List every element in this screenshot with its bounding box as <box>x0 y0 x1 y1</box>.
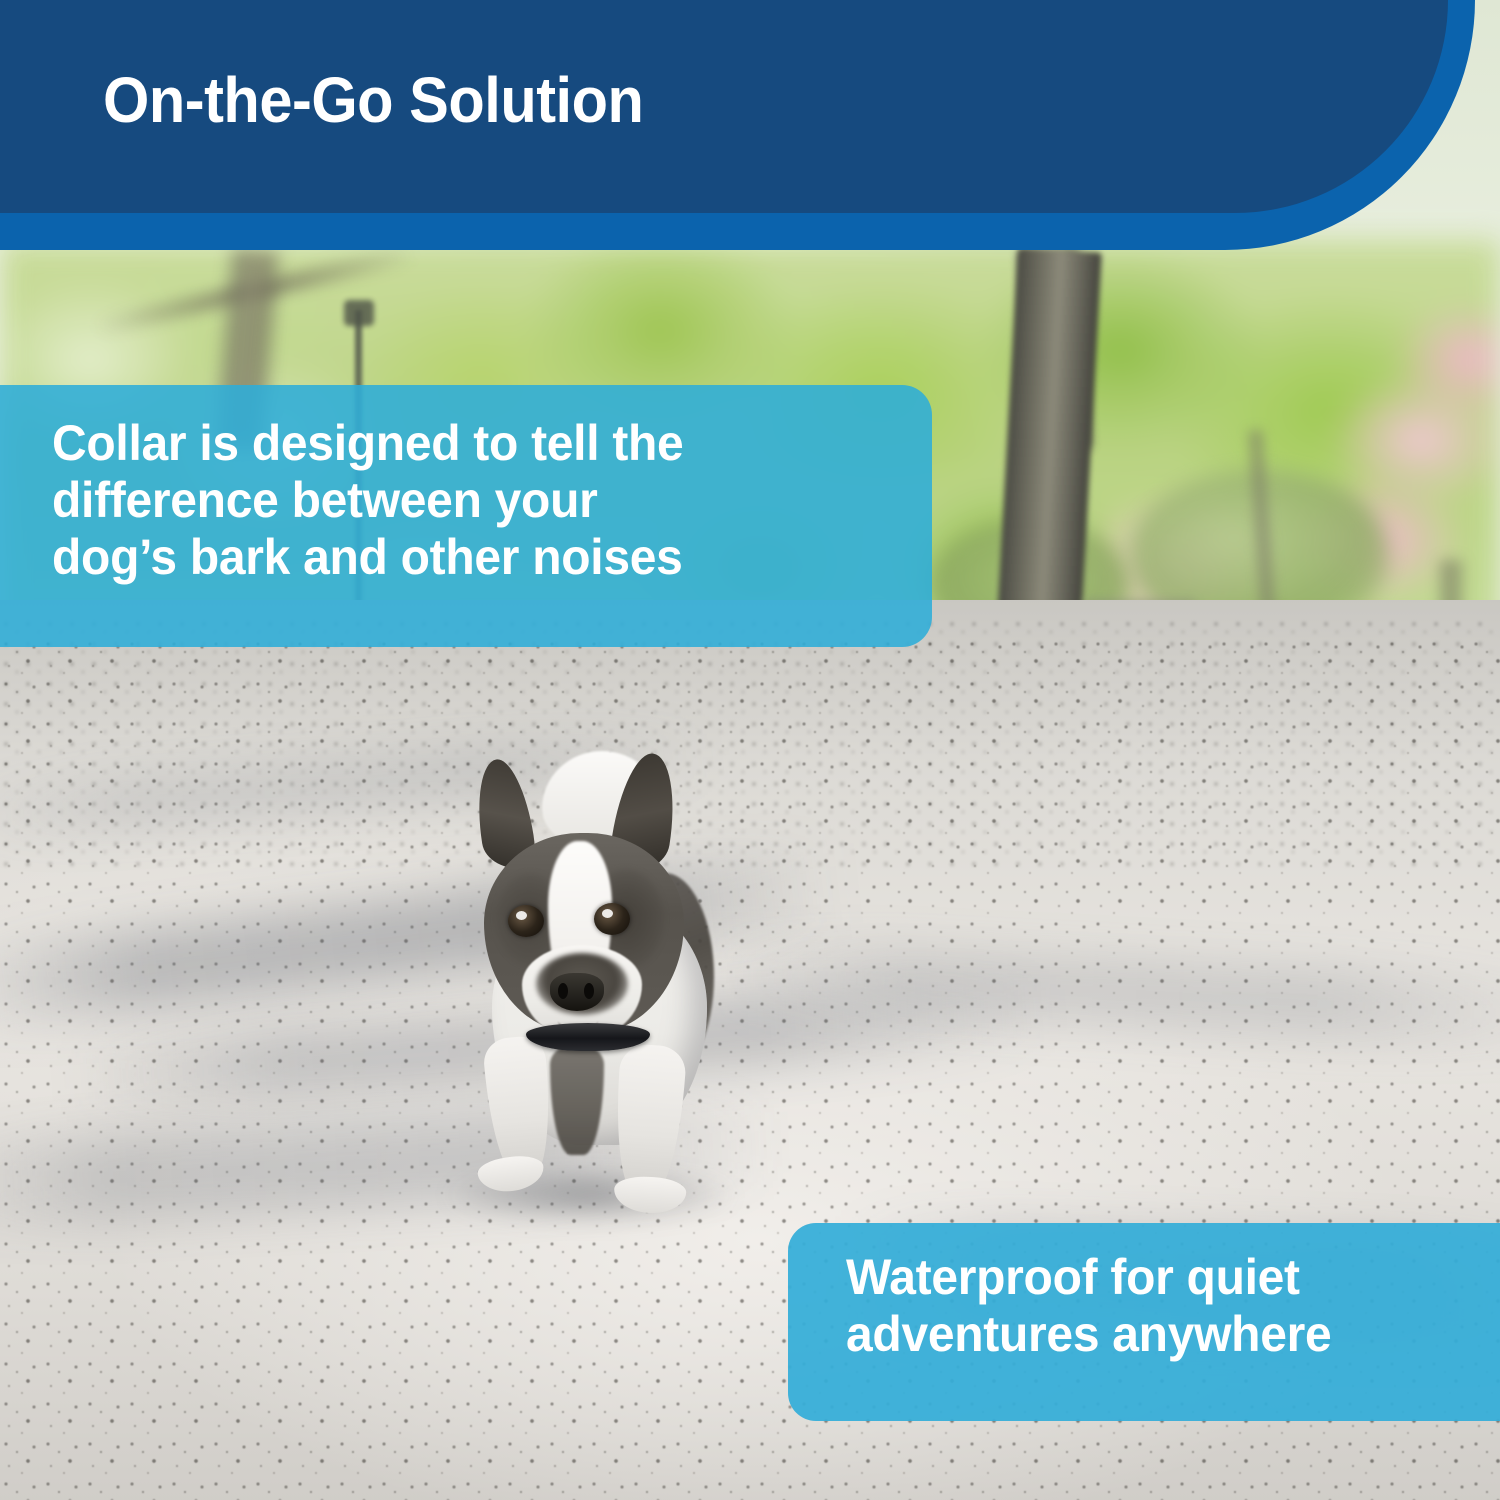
callout-line: Waterproof for quiet <box>846 1249 1445 1306</box>
callout-line: adventures anywhere <box>846 1306 1445 1363</box>
callout-line: dog’s bark and other noises <box>52 529 858 586</box>
dog-nostril-left <box>558 983 568 999</box>
dog-bark-collar <box>526 1023 650 1051</box>
callout-waterproof: Waterproof for quiet adventures anywhere <box>788 1223 1500 1421</box>
page-title: On-the-Go Solution <box>103 63 643 137</box>
dog-eye-right <box>594 903 630 935</box>
dog-nostril-right <box>584 983 594 999</box>
callout-line: Collar is designed to tell the <box>52 415 858 472</box>
callout-bark-detection: Collar is designed to tell the differenc… <box>0 385 932 647</box>
dog-nose <box>550 973 604 1011</box>
dog-eye-left <box>508 905 544 937</box>
callout-line: difference between your <box>52 472 858 529</box>
dog-subject <box>430 745 760 1225</box>
promo-image-root: On-the-Go Solution Collar is designed to… <box>0 0 1500 1500</box>
